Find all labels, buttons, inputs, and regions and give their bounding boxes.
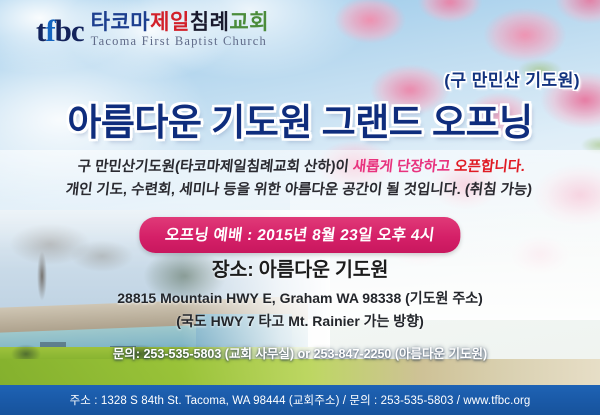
logo-korean-part-1: 타코마 [91,11,150,34]
description-highlight-red: 오픈합니다. [453,159,525,175]
logo-korean-part-3: 침례 [190,11,230,34]
logo-korean-part-4: 교회 [229,11,269,34]
description-line-1: 구 만민산기도원(타코마제일침례교회 산하)이 새롭게 단장하고 오픈합니다. [0,156,600,179]
venue-address: 28815 Mountain HWY E, Graham WA 98338 (기… [0,287,600,332]
venue-address-line-2: (국도 HWY 7 타고 Mt. Rainier 가는 방향) [0,310,600,333]
opening-service-text: 오프닝 예배 : 2015년 8월 23일 오후 4시 [164,223,436,245]
footer-bar: 주소 : 1328 S 84th St. Tacoma, WA 98444 (교… [0,385,600,415]
logo-letter-b: b [55,13,71,48]
church-logo[interactable]: tfbc 타코마제일침례교회 Tacoma First Baptist Chur… [36,12,269,48]
logo-wordmark: 타코마제일침례교회 Tacoma First Baptist Church [91,12,269,48]
logo-korean-part-2: 제일 [150,11,190,34]
description-line-1-plain: 구 만민산기도원(타코마제일침례교회 산하)이 [77,159,354,175]
logo-letter-c: c [71,13,84,48]
venue-address-line-1: 28815 Mountain HWY E, Graham WA 98338 (기… [0,287,600,310]
church-event-flyer: tfbc 타코마제일침례교회 Tacoma First Baptist Chur… [0,0,600,415]
description-highlight-pink: 새롭게 단장하고 [352,159,455,175]
opening-service-banner: 오프닝 예배 : 2015년 8월 23일 오후 4시 [139,217,460,253]
logo-letter-f: f [45,13,54,48]
description-block: 구 만민산기도원(타코마제일침례교회 산하)이 새롭게 단장하고 오픈합니다. … [0,156,600,203]
tfbc-monogram-icon: tfbc [36,15,84,48]
logo-letter-t: t [36,13,45,48]
grass-strip-background [0,359,600,385]
contact-phone-line: 문의: 253-535-5803 (교회 사무실) or 253-847-225… [0,343,600,362]
logo-korean-name: 타코마제일침례교회 [91,12,269,34]
former-name-label: (구 만민산 기도원) [444,66,580,91]
venue-name: 장소: 아름다운 기도원 [0,253,600,282]
page-title: 아름다운 기도원 그랜드 오프닝 [0,92,600,146]
footer-text: 주소 : 1328 S 84th St. Tacoma, WA 98444 (교… [70,392,531,408]
description-line-2: 개인 기도, 수련회, 세미나 등을 위한 아름다운 공간이 될 것입니다. (… [0,179,600,202]
logo-english-name: Tacoma First Baptist Church [91,35,269,48]
